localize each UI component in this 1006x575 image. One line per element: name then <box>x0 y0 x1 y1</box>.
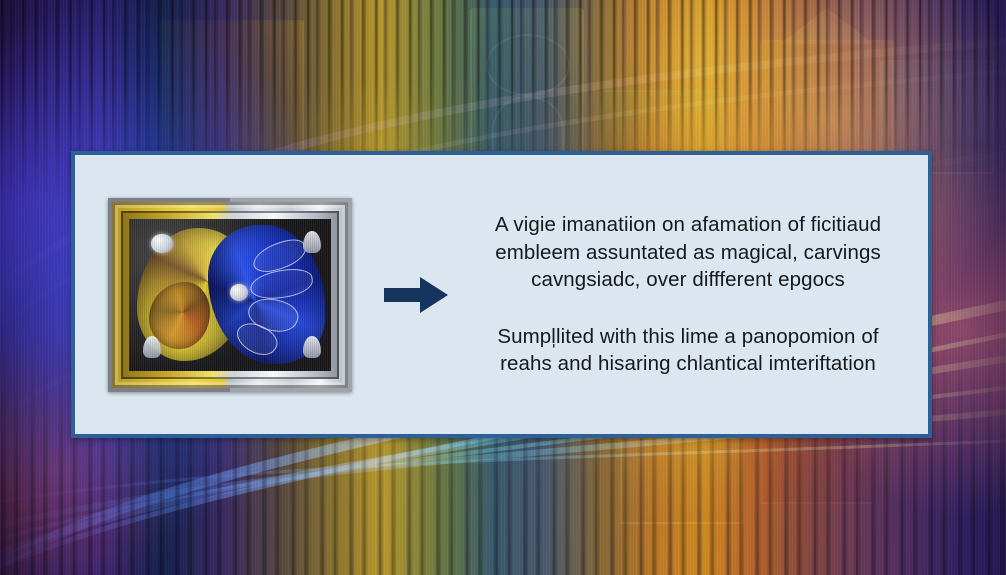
pearl-accent-center <box>230 284 248 301</box>
paragraph-2: Sumpl̩lited with this lime a panopomion … <box>472 323 904 378</box>
paragraph-2-line-2: reahs and hisaring chlantical imteriftat… <box>472 350 904 377</box>
paragraph-1-line-3: cavngsiadc, over diffferent epgocs <box>472 266 904 293</box>
description-text-block: A vigie imanatiion on afamation of ficit… <box>472 211 904 377</box>
corner-flourish-top-right <box>303 231 321 254</box>
screenshot-root: A vigie imanatiion on afamation of ficit… <box>0 0 1006 575</box>
right-arrow-icon <box>384 275 450 315</box>
artwork-canvas <box>129 219 331 371</box>
framed-artwork <box>108 198 352 392</box>
paragraph-2-line-1: Sumpl̩lited with this lime a panopomion … <box>472 323 904 350</box>
paragraph-1-line-2: embleem assuntated as magical, carvings <box>472 239 904 266</box>
content-panel: A vigie imanatiion on afamation of ficit… <box>71 151 932 438</box>
paragraph-1-line-1: A vigie imanatiion on afamation of ficit… <box>472 211 904 238</box>
paragraph-1: A vigie imanatiion on afamation of ficit… <box>472 211 904 293</box>
